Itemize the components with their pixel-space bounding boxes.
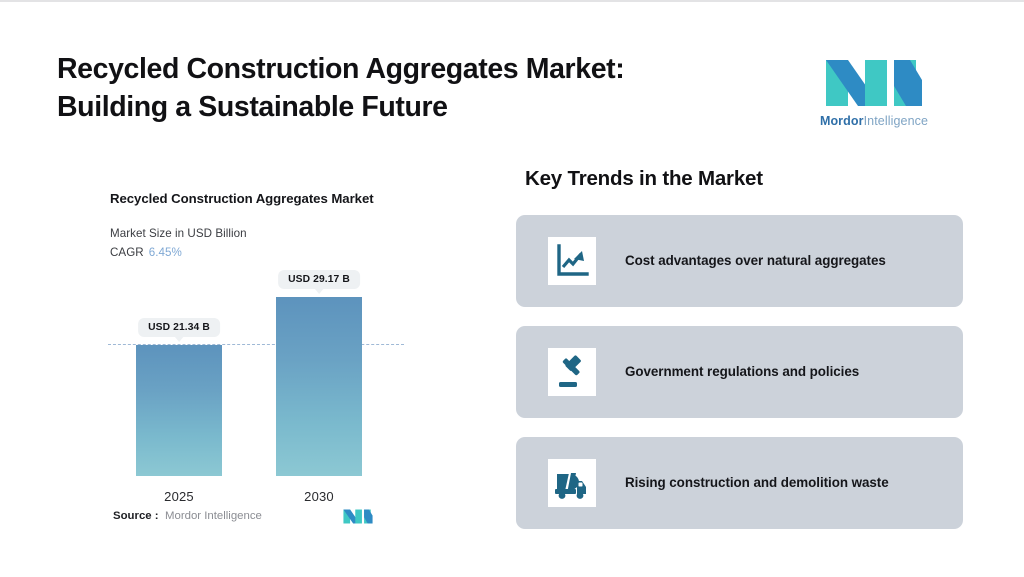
bar-value-badge: USD 21.34 B — [138, 318, 220, 337]
source-value: Mordor Intelligence — [165, 510, 262, 522]
chart-cagr-value: 6.45% — [149, 246, 182, 259]
trend-card[interactable]: Government regulations and policies — [516, 326, 963, 418]
chart-plot-area: USD 21.34 B 2025 USD 29.17 B 2030 — [108, 275, 408, 510]
key-trends-heading: Key Trends in the Market — [525, 167, 763, 191]
trend-card[interactable]: Cost advantages over natural aggregates — [516, 215, 963, 307]
bar-2030[interactable] — [276, 297, 362, 476]
cement-mixer-truck-icon — [548, 459, 596, 507]
trend-label: Rising construction and demolition waste — [625, 473, 889, 492]
page-title-line-1: Recycled Construction Aggregates Market: — [57, 51, 717, 89]
trend-label: Cost advantages over natural aggregates — [625, 251, 886, 270]
chart-cagr: CAGR6.45% — [110, 246, 182, 259]
mordor-m-logo-icon — [341, 508, 375, 525]
source-label: Source : — [113, 510, 159, 522]
trend-label: Government regulations and policies — [625, 362, 859, 381]
chart-panel: Recycled Construction Aggregates Market … — [0, 170, 470, 560]
bar-2025[interactable] — [136, 345, 222, 476]
slide-canvas: Recycled Construction Aggregates Market:… — [0, 0, 1024, 577]
brand-wordmark-bold: Mordor — [820, 114, 864, 128]
brand-wordmark: MordorIntelligence — [818, 114, 930, 128]
page-title-line-2: Building a Sustainable Future — [57, 89, 717, 127]
chart-title: Recycled Construction Aggregates Market — [110, 190, 385, 208]
trend-card[interactable]: Rising construction and demolition waste — [516, 437, 963, 529]
brand-logo: MordorIntelligence — [818, 56, 930, 132]
mordor-m-logo-icon — [818, 56, 930, 110]
gavel-icon — [548, 348, 596, 396]
chart-source-row: Source : Mordor Intelligence — [113, 508, 403, 530]
x-axis-label-2025: 2025 — [164, 489, 194, 504]
brand-wordmark-light: Intelligence — [864, 114, 928, 128]
chart-cagr-label: CAGR — [110, 246, 144, 259]
x-axis-label-2030: 2030 — [304, 489, 334, 504]
page-title: Recycled Construction Aggregates Market:… — [57, 51, 717, 127]
bar-value-badge: USD 29.17 B — [278, 270, 360, 289]
chart-subtitle: Market Size in USD Billion — [110, 227, 247, 240]
growth-chart-icon — [548, 237, 596, 285]
key-trends-panel: Key Trends in the Market Cost advantages… — [516, 167, 964, 535]
